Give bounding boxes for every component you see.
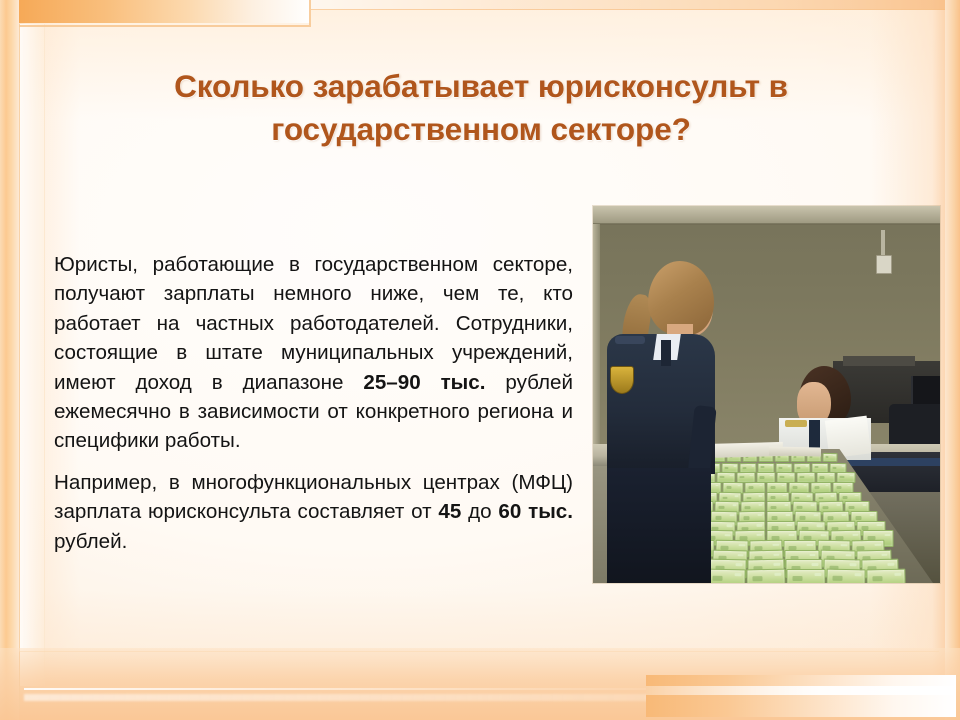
photo-banknote (758, 463, 775, 473)
photo-banknote (822, 453, 837, 462)
decor-bottom-accent-sheen (646, 686, 956, 695)
photo-banknote (866, 569, 905, 583)
decor-top-accent-frame (19, 0, 311, 27)
photo-seated-officer-epaulette-left (785, 420, 807, 427)
photo-banknote (787, 569, 826, 583)
photo-standing-officer-tie (661, 340, 671, 366)
photo-wall-fixture-stem (881, 230, 885, 256)
photo-standing-officer-skirt (607, 468, 711, 583)
body-paragraph-2: Например, в многофункциональных центрах … (54, 468, 573, 556)
slide-body-text: Юристы, работающие в государственном сек… (54, 250, 573, 556)
photo-standing-officer-emblem (610, 366, 634, 394)
photo-door-frame (593, 224, 600, 458)
photo-ceiling (593, 206, 940, 224)
photo-standing-officer-epaulette (615, 336, 645, 344)
photo-ceiling-seam (593, 223, 940, 225)
body-paragraph-1: Юристы, работающие в государственном сек… (54, 250, 573, 456)
photo-banknote (826, 569, 865, 583)
slide-canvas: Сколько зарабатывает юрисконсульт в госу… (0, 0, 960, 720)
decor-bottom-accent-block (646, 675, 956, 717)
photo-banknote (706, 569, 745, 583)
photo-printer-tray (843, 356, 915, 366)
slide-photo (593, 206, 940, 583)
photo-wall-fixture (876, 255, 892, 274)
decor-left-outline (19, 24, 45, 686)
photo-banknote (746, 569, 785, 583)
photo-desk-papers-2 (769, 447, 821, 457)
slide-title: Сколько зарабатывает юрисконсульт в госу… (86, 65, 876, 150)
decor-top-thin-bar (311, 0, 960, 9)
decor-right-strip (945, 0, 960, 720)
decor-left-strip (0, 0, 19, 720)
